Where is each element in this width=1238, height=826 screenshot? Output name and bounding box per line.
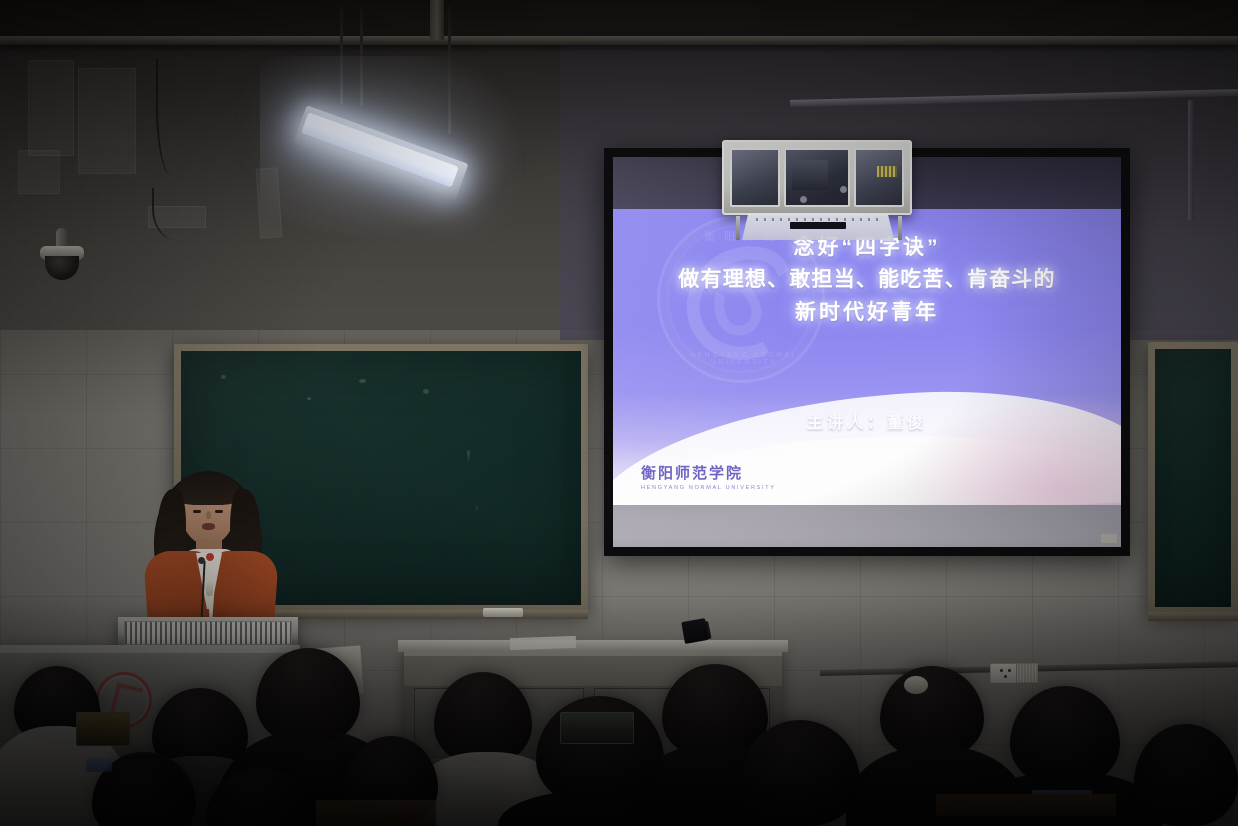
ceiling-lamp [300, 86, 480, 196]
screen-corner-tag [1101, 534, 1117, 543]
av-window-right [854, 148, 904, 207]
outlet-hole [1004, 675, 1007, 678]
audience-laptop[interactable] [560, 712, 634, 744]
av-yellow-label [877, 166, 897, 177]
lamp-rod-left2 [360, 6, 363, 106]
wall-plate-3 [18, 150, 60, 194]
audience-laptop[interactable] [76, 712, 130, 746]
wall-plate-1 [28, 60, 74, 156]
ceiling-beam [0, 36, 1238, 45]
wall-outlet-secondary[interactable] [1016, 663, 1038, 683]
lamp-housing [293, 105, 468, 201]
chalk-smudge [467, 436, 571, 510]
slide-title: 念好“四字诀” 做有理想、敢担当、能吃苦、肯奋斗的 新时代好青年 [613, 233, 1121, 329]
lamp-rod-right [448, 6, 451, 134]
phone-screen-glow [86, 758, 112, 772]
speaker-pendant [206, 581, 213, 596]
board-eraser[interactable] [483, 608, 523, 617]
wall-plate-2 [78, 68, 136, 174]
microphone-icon [198, 557, 205, 564]
av-leg-left [736, 216, 740, 240]
speaker-mouth [202, 523, 215, 530]
slide-logo-chinese: 衡阳师范学院 [641, 462, 776, 483]
presentation-slide: 衡阳师范 HENGYANG NORMAL UNIVERSITY 念好“四字诀” … [613, 209, 1121, 505]
lamp-rod-left [340, 6, 343, 104]
cabinet-countertop [398, 640, 788, 652]
seal-text-bottom: HENGYANG NORMAL UNIVERSITY [660, 352, 828, 366]
chalk-ledge-right [1148, 612, 1238, 621]
right-chalkboard [1148, 342, 1238, 614]
av-knob [840, 186, 847, 193]
slide-logo-english: HENGYANG NORMAL UNIVERSITY [641, 485, 776, 491]
lecture-hall-scene: 衡阳师范 HENGYANG NORMAL UNIVERSITY 念好“四字诀” … [0, 0, 1238, 826]
cabinet-paper [510, 636, 576, 650]
speaker-person [140, 465, 280, 640]
ceiling-beam-vertical [430, 0, 444, 40]
chalk-dot [359, 379, 366, 383]
dome-camera [38, 228, 86, 284]
speaker-nose [206, 511, 211, 519]
chalk-dot [423, 389, 429, 394]
outlet-hole [1008, 669, 1011, 672]
av-window-center [784, 148, 850, 207]
av-shelf-perforations [756, 218, 880, 221]
av-leg-right [898, 216, 902, 240]
speaker-eye-left [193, 510, 201, 513]
lectern-grille [124, 621, 292, 645]
hair-scrunchie [904, 676, 928, 694]
screen-grey-band-bottom [613, 505, 1121, 547]
slide-title-line-2: 做有理想、敢担当、能吃苦、肯奋斗的 [613, 263, 1121, 297]
slide-university-logo: 衡阳师范学院 HENGYANG NORMAL UNIVERSITY [641, 462, 776, 491]
wall-pipe-vertical [1188, 100, 1194, 220]
av-equipment-cabinet [722, 140, 912, 215]
camera-dome-icon [45, 256, 79, 280]
speaker-eye-right [215, 510, 223, 513]
bench-desk [936, 794, 1116, 816]
lamp-tube-icon [301, 112, 459, 187]
chalk-dot [221, 375, 226, 379]
av-knob [800, 196, 807, 203]
slide-presenter-line: 主讲人：董俊 [613, 409, 1121, 433]
wall-speaker [681, 618, 708, 644]
speaker-collar-button [206, 553, 214, 561]
av-shelf-slot [790, 222, 846, 229]
outlet-hole [1000, 669, 1003, 672]
slide-title-line-3: 新时代好青年 [613, 297, 1121, 329]
chalk-dot [307, 397, 311, 400]
av-device-icon [792, 160, 828, 190]
av-window-left [730, 148, 780, 207]
bench-desk [316, 800, 436, 826]
